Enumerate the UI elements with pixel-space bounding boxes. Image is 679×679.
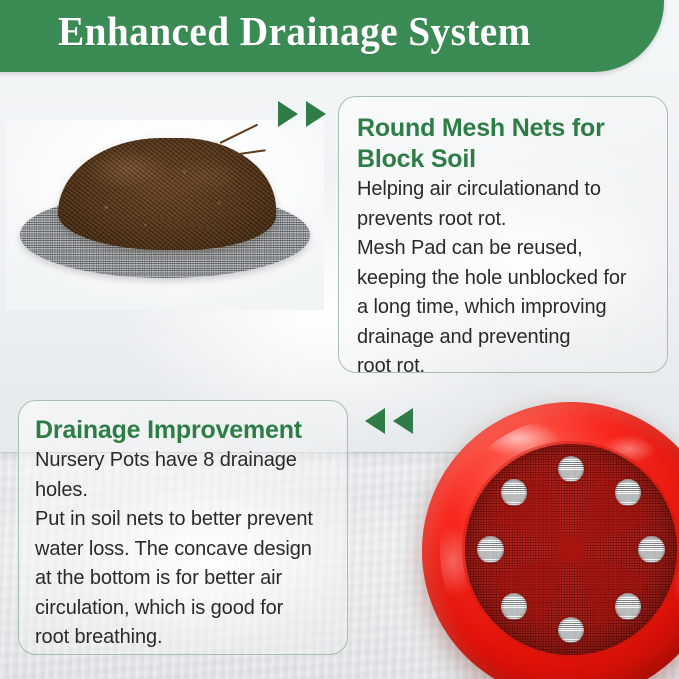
info-card-drainage-improvement: Drainage Improvement Nursery Pots have 8… <box>18 400 348 655</box>
triangle-left-icon <box>393 408 413 434</box>
card-body-mesh-nets: Helping air circulationand to prevents r… <box>357 175 651 382</box>
soil-on-mesh-pad-photo <box>6 120 324 310</box>
drainage-hole <box>615 479 641 505</box>
soil-twig-icon <box>220 124 259 144</box>
page-title: Enhanced Drainage System <box>58 2 615 60</box>
soil-twig-icon <box>232 149 266 156</box>
drainage-hole <box>501 593 527 619</box>
drainage-hole <box>615 593 641 619</box>
drainage-hole <box>477 536 503 562</box>
arrows-pointing-right <box>278 101 326 127</box>
triangle-right-icon <box>278 101 298 127</box>
red-nursery-pot-bottom-photo <box>422 402 679 679</box>
soil-mound-graphic <box>58 138 276 250</box>
drainage-hole <box>501 479 527 505</box>
infographic-canvas: Enhanced Drainage System Round Mesh Nets… <box>0 0 679 679</box>
triangle-right-icon <box>306 101 326 127</box>
card-body-drainage-improvement: Nursery Pots have 8 drainage holes. Put … <box>35 446 333 653</box>
pot-inner-base <box>465 444 677 656</box>
card-heading-mesh-nets: Round Mesh Nets for Block Soil <box>357 113 651 175</box>
info-card-mesh-nets: Round Mesh Nets for Block Soil Helping a… <box>338 96 668 373</box>
triangle-left-icon <box>365 408 385 434</box>
card-heading-drainage-improvement: Drainage Improvement <box>35 415 333 446</box>
drainage-hole <box>638 536 664 562</box>
header-banner: Enhanced Drainage System <box>0 0 664 72</box>
arrows-pointing-left <box>365 408 413 434</box>
